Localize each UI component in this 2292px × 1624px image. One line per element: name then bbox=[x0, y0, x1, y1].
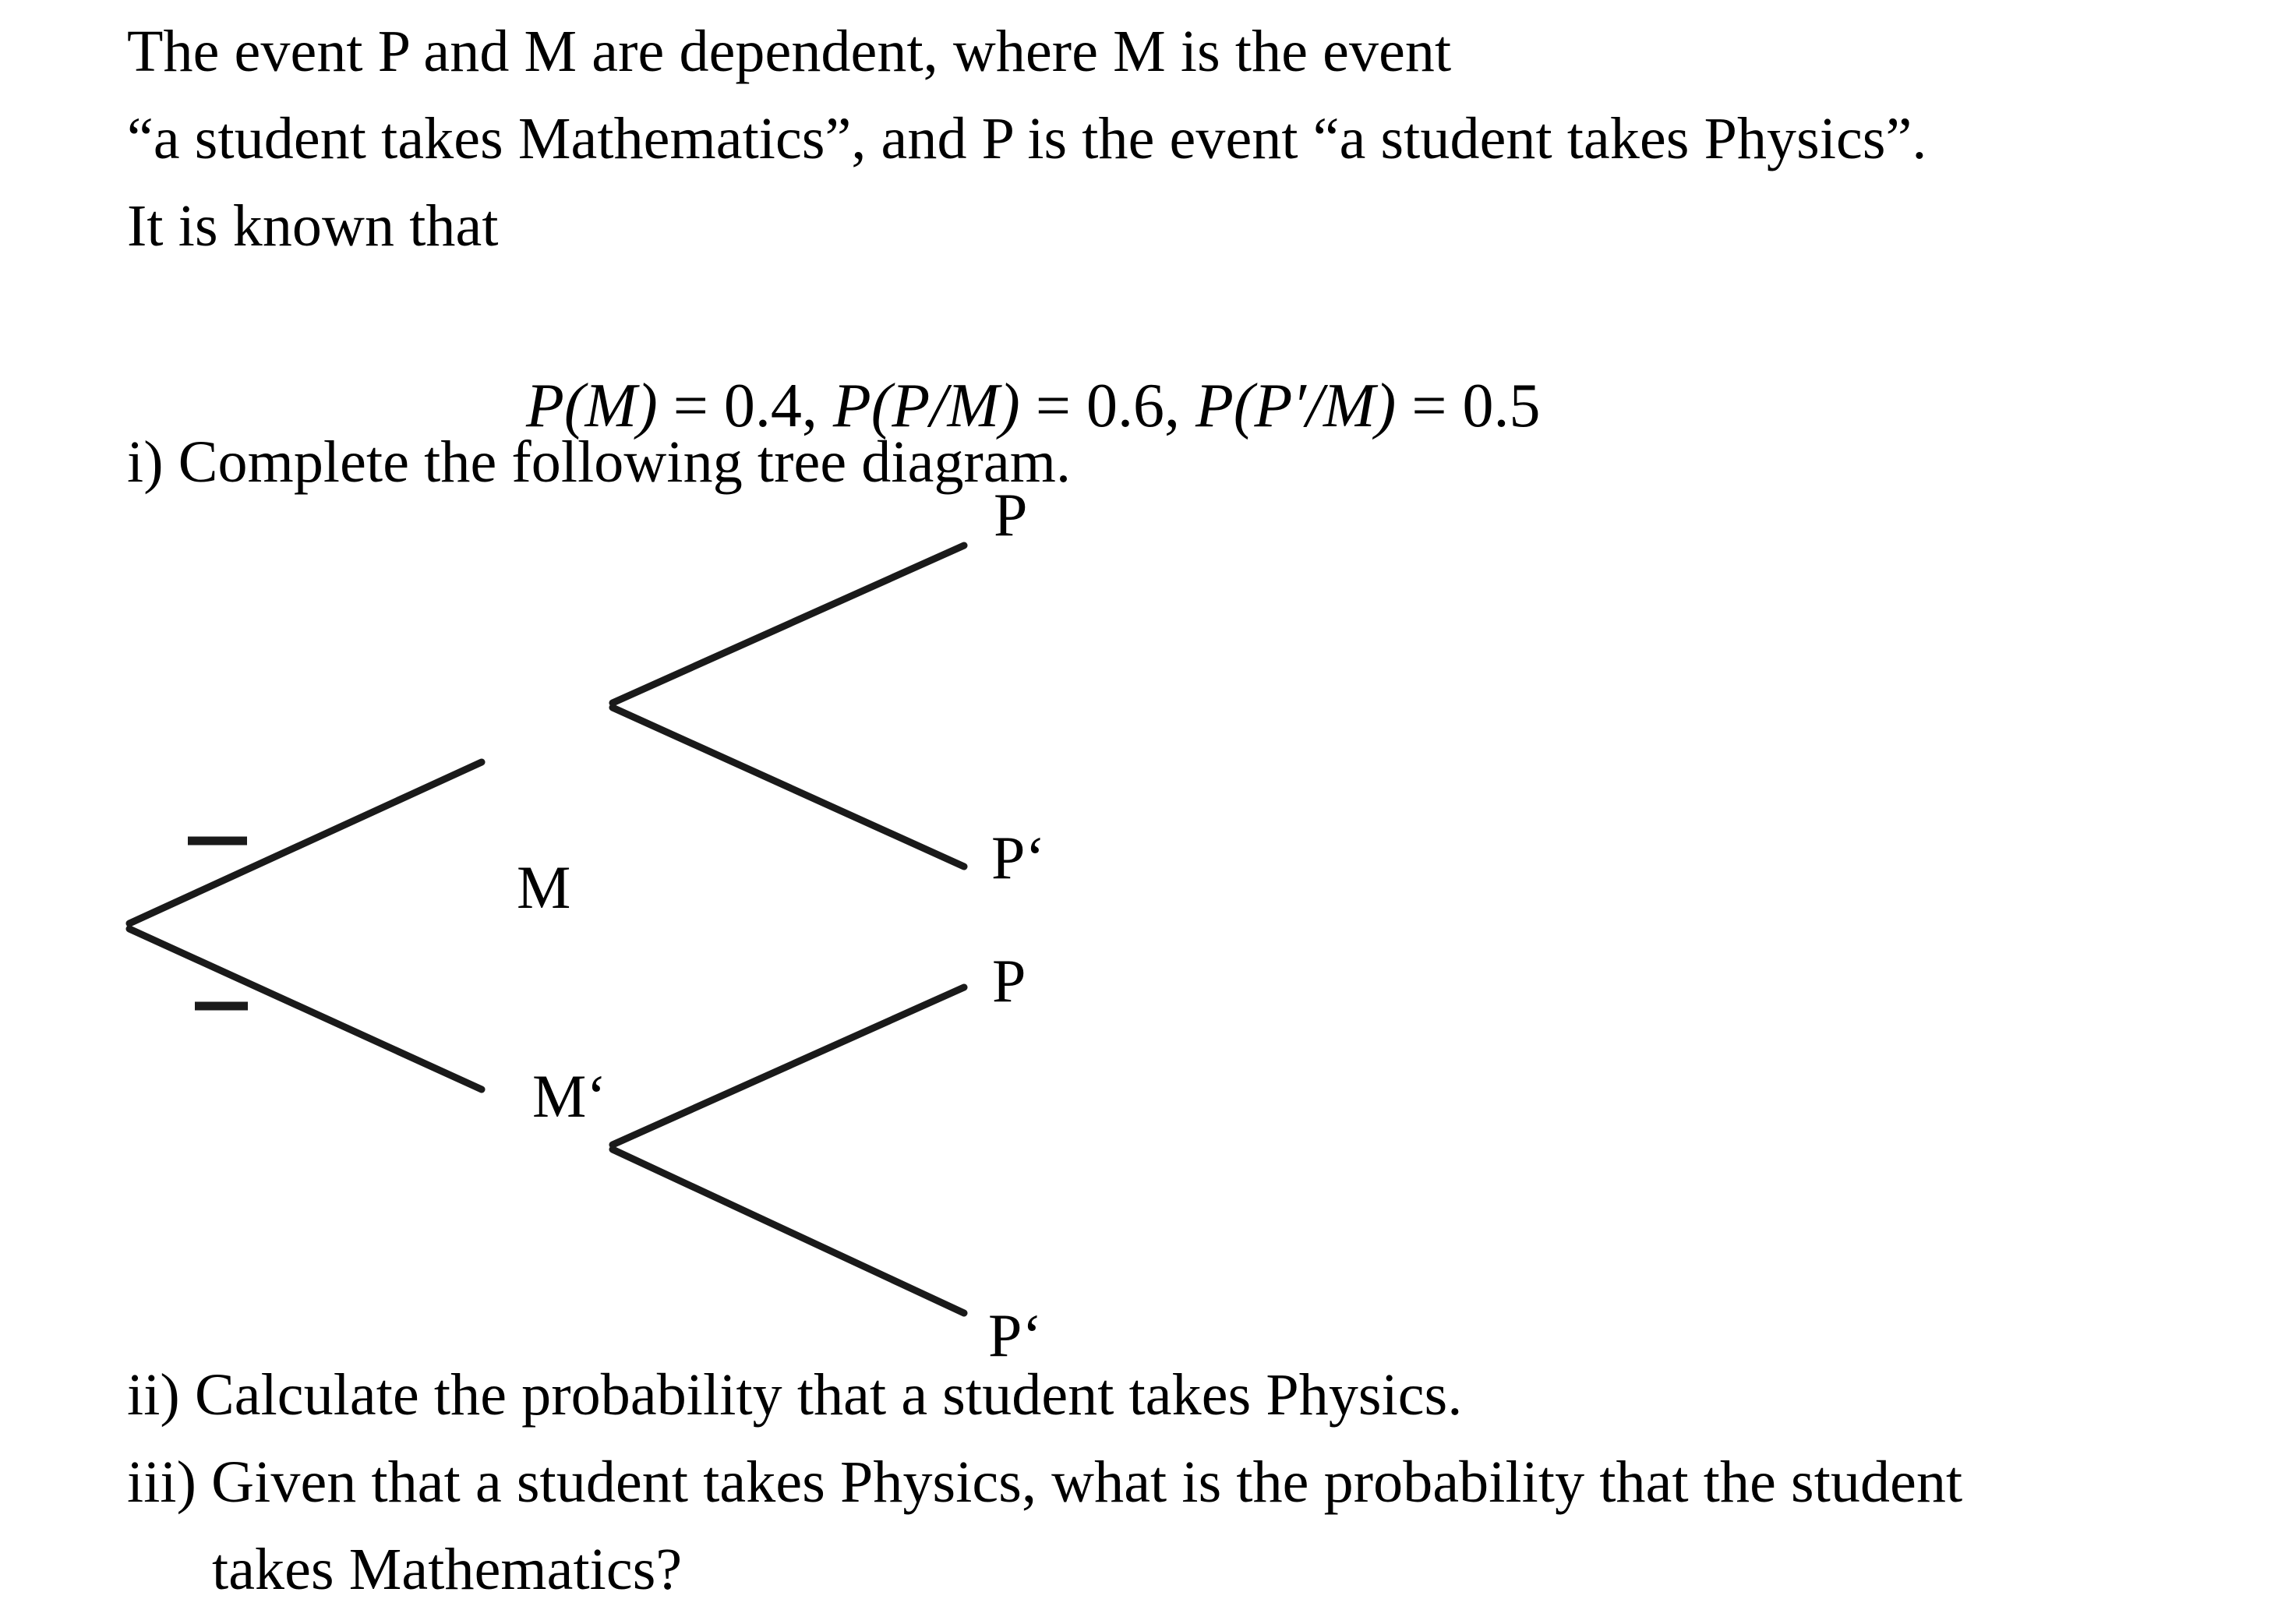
equation-equals-3: = bbox=[1396, 372, 1462, 440]
equation-p-pprime-given-m-value: 0.5 bbox=[1462, 372, 1540, 440]
intro-line-2: “a student takes Mathematics”, and P is … bbox=[127, 109, 1927, 168]
intro-line-3: It is known that bbox=[127, 196, 499, 256]
question-iii: iii) Given that a student takes Physics,… bbox=[127, 1453, 1962, 1512]
tree-leaf-p-top: P bbox=[994, 485, 1027, 545]
tree-leaf-p-prime-top: P‘ bbox=[991, 828, 1045, 888]
tree-leaf-p-prime-bottom: P‘ bbox=[988, 1305, 1042, 1366]
branch-m-to-p bbox=[613, 545, 964, 703]
equation-p-pprime-given-m: P(P′/M) bbox=[1195, 372, 1396, 440]
intro-line-1: The event P and M are dependent, where M… bbox=[127, 22, 1451, 81]
question-iii-continued: takes Mathematics? bbox=[212, 1540, 682, 1599]
tree-diagram-lines bbox=[0, 468, 1247, 1364]
question-ii: ii) Calculate the probability that a stu… bbox=[127, 1365, 1462, 1425]
worksheet-page: The event P and M are dependent, where M… bbox=[0, 0, 2292, 1624]
branch-m-prime-to-p bbox=[613, 987, 964, 1145]
tree-leaf-p-bottom: P bbox=[992, 951, 1026, 1011]
tree-node-m-prime: M‘ bbox=[532, 1066, 606, 1127]
probability-tree-diagram: M M‘ P P‘ P P‘ bbox=[0, 468, 1247, 1364]
tree-node-m: M bbox=[517, 857, 570, 918]
branch-root-to-m-prime bbox=[129, 929, 482, 1089]
branch-m-prime-to-p-prime bbox=[613, 1149, 964, 1313]
equation-p-p-given-m-value: 0.6 bbox=[1086, 372, 1164, 440]
branch-root-to-m bbox=[129, 762, 482, 923]
branch-m-to-p-prime bbox=[613, 708, 964, 867]
equation-comma-2: , bbox=[1164, 372, 1195, 440]
